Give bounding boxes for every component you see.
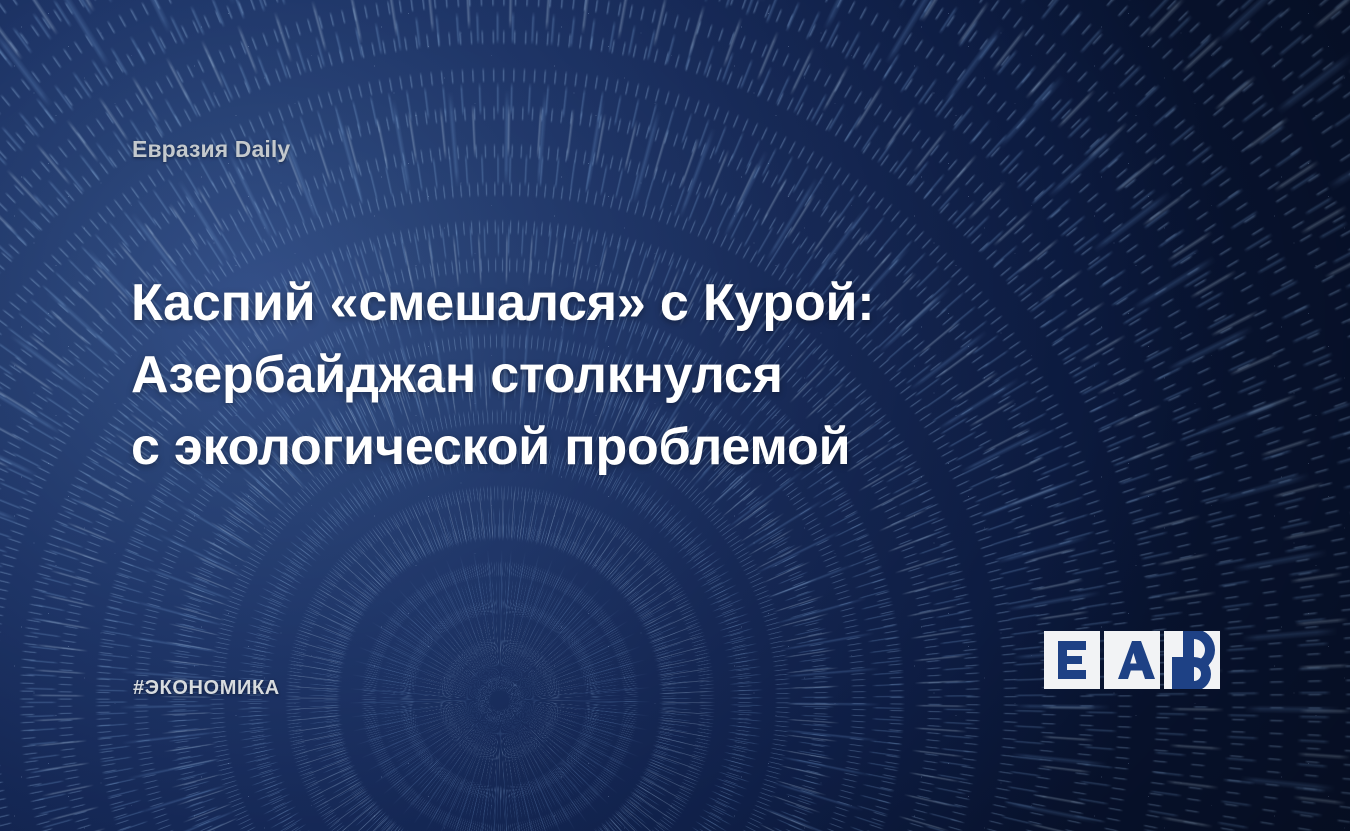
brand-name: Евразия Daily [132,136,290,163]
headline-line-1: Каспий «смешался» с Курой: [131,267,961,339]
social-share-card: Евразия Daily Каспий «смешался» с Курой:… [0,0,1350,831]
category-tag: #ЭКОНОМИКА [133,677,280,700]
headline: Каспий «смешался» с Курой: Азербайджан с… [131,267,961,483]
ead-logo-svg [1044,631,1220,689]
headline-line-3: с экологической проблемой [131,411,961,483]
card-content: Евразия Daily Каспий «смешался» с Курой:… [0,0,1350,831]
logo-letter-e [1058,641,1086,679]
ead-logo [1044,631,1220,689]
headline-line-2: Азербайджан столкнулся [131,339,961,411]
